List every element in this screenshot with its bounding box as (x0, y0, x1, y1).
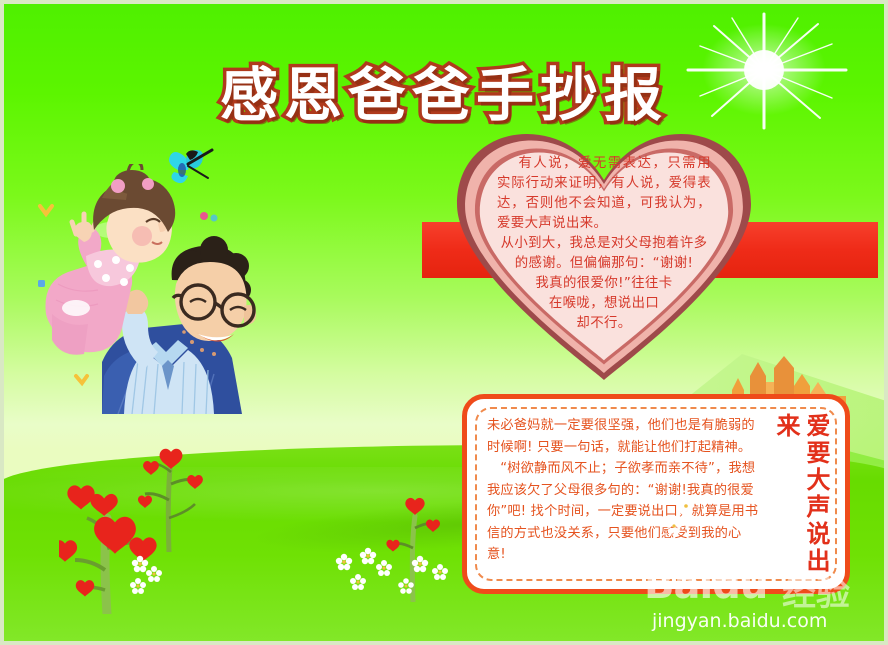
heart-tree-2 (129, 442, 219, 552)
heart-paragraph-6: 却不行。 (497, 314, 711, 334)
poster-canvas: 感恩爸爸手抄报 (0, 0, 888, 645)
heart-paragraph-3: 的感谢。但偏偏那句：“谢谢! (497, 254, 711, 274)
heart-paragraph-1: 有人说，爱无需表达，只需用实际行动来证明，有人说，爱得表达，否则他不会知道，可我… (497, 154, 711, 234)
page-title: 感恩爸爸手抄报 (4, 48, 884, 132)
daisy-cluster-right (664, 490, 734, 554)
heart-paragraph-5: 在喉咙，想说出口 (497, 294, 711, 314)
heart-paragraph-2: 从小到大，我总是对父母抱着许多 (497, 234, 711, 254)
box-paragraph-1: 未必爸妈就一定要很坚强，他们也是有脆弱的时候啊! 只要一句话，就能让他们打起精神… (487, 415, 759, 458)
heart-text-content: 有人说，爱无需表达，只需用实际行动来证明，有人说，爱得表达，否则他不会知道，可我… (497, 154, 711, 334)
daisy-cluster-left (124, 544, 244, 618)
heart-paragraph-4: 我真的很爱你!”往往卡 (497, 274, 711, 294)
heart-panel: 有人说，爱无需表达，只需用实际行动来证明，有人说，爱得表达，否则他不会知道，可我… (439, 122, 769, 384)
daisy-cluster-center (324, 534, 504, 618)
vertical-slogan: 爱要大声说出来 (797, 413, 831, 589)
bottom-text-box: 未必爸妈就一定要很坚强，他们也是有脆弱的时候啊! 只要一句话，就能让他们打起精神… (462, 394, 850, 594)
butterfly-icon (164, 148, 216, 186)
father-daughter-illustration (32, 164, 262, 414)
